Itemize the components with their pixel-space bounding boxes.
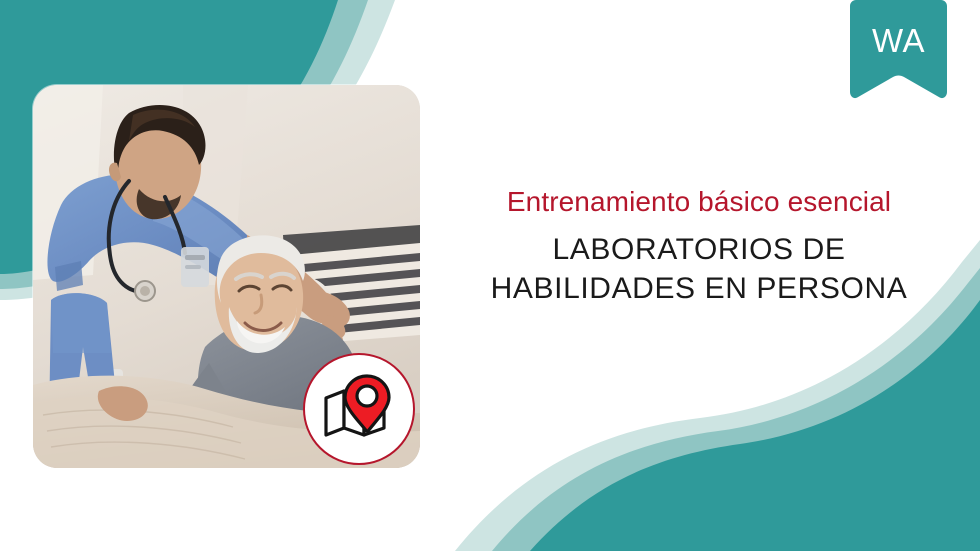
eyebrow-text: Entrenamiento básico esencial	[443, 186, 955, 218]
map-location-badge	[303, 353, 415, 465]
wave-solid	[530, 300, 980, 551]
wa-logo-text: WA	[850, 22, 947, 60]
page-title: LABORATORIOS DE HABILIDADES EN PERSONA	[443, 230, 955, 308]
title-block: Entrenamiento básico esencial LABORATORI…	[443, 186, 955, 308]
headline-line-2: HABILIDADES EN PERSONA	[491, 272, 908, 305]
headline-line-1: LABORATORIOS DE	[553, 233, 846, 266]
wave-medium	[492, 268, 980, 551]
wa-logo-badge: WA	[850, 0, 947, 99]
map-location-pin-icon	[322, 374, 396, 444]
slide-canvas: WA Entrenamiento básico esencial LABORAT…	[0, 0, 980, 551]
